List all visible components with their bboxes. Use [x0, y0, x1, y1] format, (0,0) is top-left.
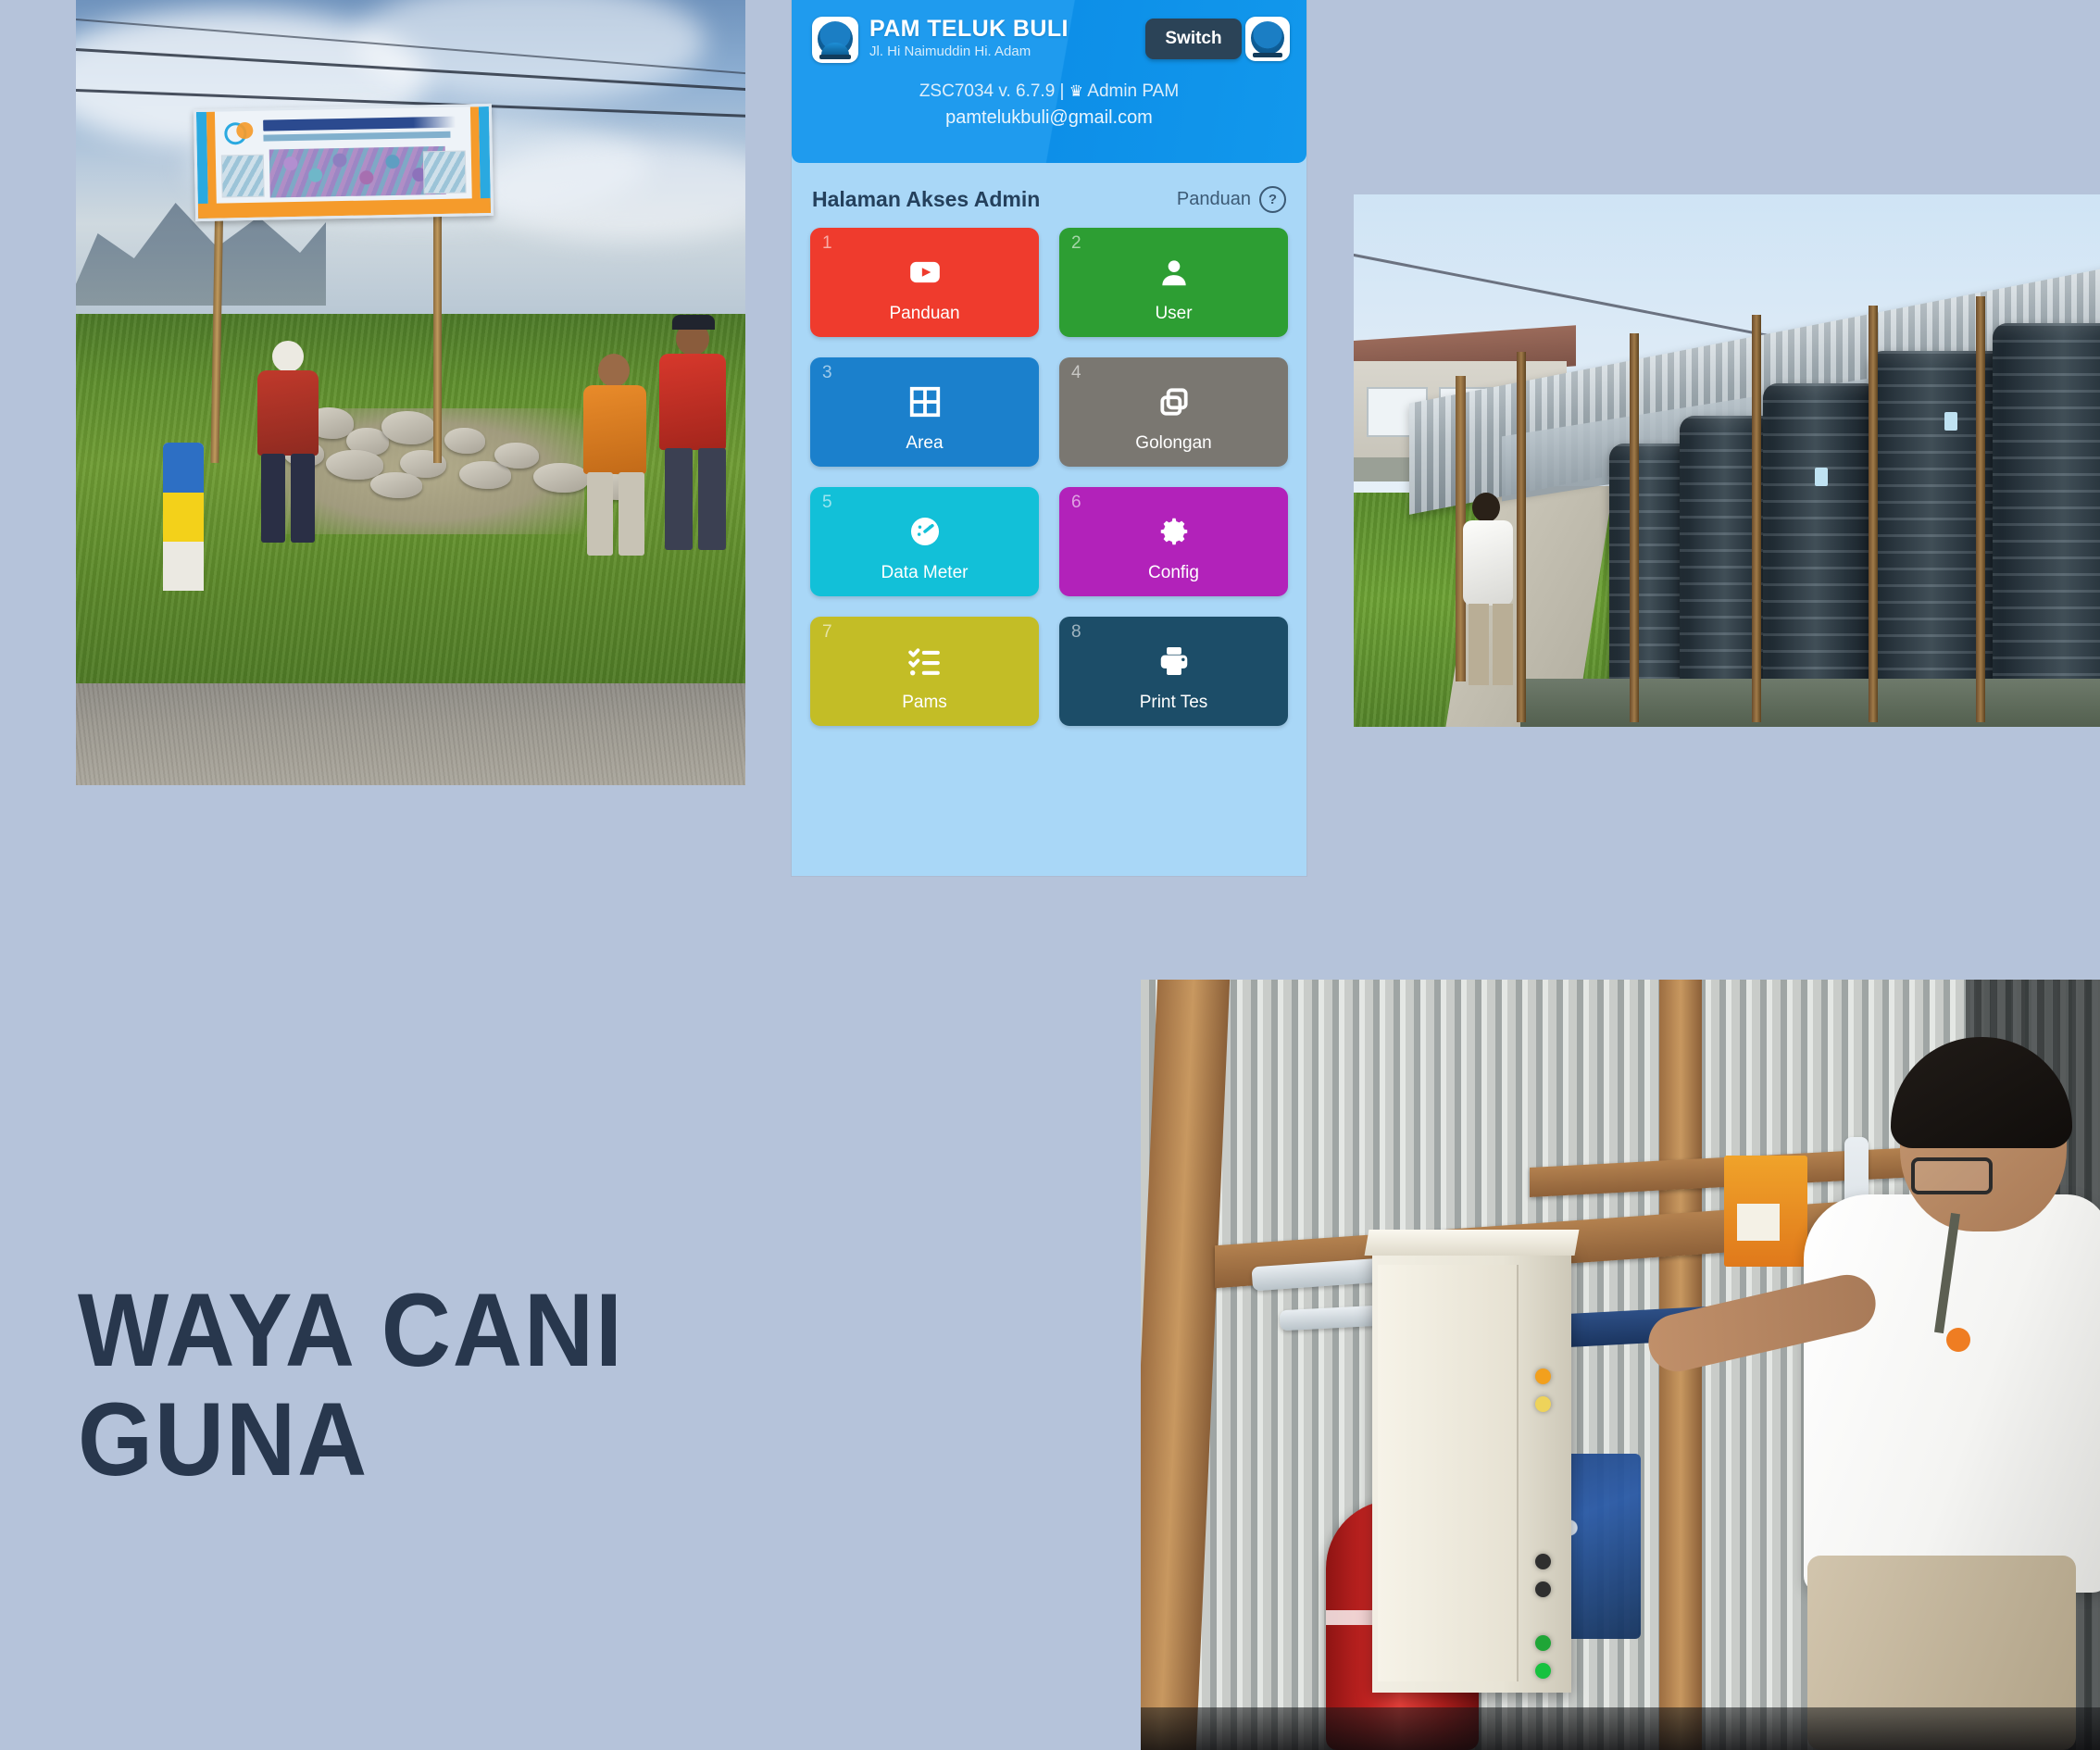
app-header: PAM TELUK BULI Jl. Hi Naimuddin Hi. Adam… — [792, 0, 1306, 163]
printer-icon — [1059, 641, 1288, 681]
shirt-logo — [1946, 1328, 1970, 1352]
copy-icon — [1059, 381, 1288, 422]
app-body: Halaman Akses Admin Panduan ? 1Panduan2U… — [792, 163, 1306, 876]
ground-concrete — [1520, 679, 2100, 727]
switch-button[interactable]: Switch — [1145, 19, 1242, 59]
water-tank — [1869, 351, 2007, 721]
indicator-lamp — [1535, 1554, 1551, 1569]
csr-logo-icon — [224, 119, 256, 144]
menu-tile-label: Print Tes — [1059, 693, 1288, 713]
app-brand-title: PAM TELUK BULI — [869, 15, 1069, 43]
indicator-lamp — [1535, 1369, 1551, 1384]
app-version-text: ZSC7034 v. 6.7.9 | — [919, 81, 1065, 101]
admin-menu-grid: 1Panduan2User3Area4Golongan5Data Meter6C… — [810, 228, 1288, 726]
menu-tile-print-tes[interactable]: 8Print Tes — [1059, 617, 1288, 726]
shelter-post — [1752, 315, 1761, 722]
pump-room-technician-photo — [1141, 980, 2100, 1750]
menu-tile-panduan[interactable]: 1Panduan — [810, 228, 1039, 337]
menu-tile-label: Panduan — [810, 304, 1039, 324]
switch-button-label: Switch — [1150, 29, 1236, 49]
grid-icon — [810, 381, 1039, 422]
menu-tile-data-meter[interactable]: 5Data Meter — [810, 487, 1039, 596]
admin-app-screenshot: PAM TELUK BULI Jl. Hi Naimuddin Hi. Adam… — [792, 0, 1306, 876]
banner-side-photo-left — [221, 155, 265, 198]
csr-banner-board — [194, 104, 494, 221]
banner-title-text — [263, 117, 456, 131]
menu-tile-number: 1 — [822, 233, 832, 254]
menu-tile-label: Pams — [810, 693, 1039, 713]
gear-icon — [1059, 511, 1288, 552]
shelter-post — [1517, 352, 1526, 722]
person-icon — [1059, 252, 1288, 293]
shelter-post — [1869, 306, 1878, 722]
panduan-help-label: Panduan — [1177, 189, 1251, 210]
control-cabinet — [1372, 1248, 1571, 1693]
banner-subtitle-text — [263, 131, 450, 142]
indicator-lamp — [1535, 1581, 1551, 1597]
menu-tile-number: 5 — [822, 493, 832, 513]
menu-tile-number: 4 — [1071, 363, 1081, 383]
water-tanks-photo — [1354, 194, 2100, 727]
checklist-icon — [810, 641, 1039, 681]
menu-tile-user[interactable]: 2User — [1059, 228, 1288, 337]
menu-tile-number: 8 — [1071, 622, 1081, 643]
road-marker-post — [163, 443, 204, 591]
technician-person — [1720, 1046, 2100, 1750]
page-title: WAYA CANI GUNA — [78, 1276, 1004, 1494]
page-title-line-2: GUNA — [78, 1385, 939, 1494]
menu-tile-number: 6 — [1071, 493, 1081, 513]
menu-tile-number: 7 — [822, 622, 832, 643]
menu-tile-label: Golongan — [1059, 433, 1288, 454]
indicator-lamp — [1535, 1663, 1551, 1679]
pam-logo-icon — [812, 17, 858, 63]
menu-tile-config[interactable]: 6Config — [1059, 487, 1288, 596]
page-canvas: PAM TELUK BULI Jl. Hi Naimuddin Hi. Adam… — [0, 0, 2100, 1750]
menu-tile-golongan[interactable]: 4Golongan — [1059, 357, 1288, 467]
app-version-role-line: ZSC7034 v. 6.7.9 | ♛ Admin PAM — [792, 79, 1306, 105]
section-title: Halaman Akses Admin — [812, 187, 1040, 212]
csr-signboard-photo — [76, 0, 745, 785]
page-title-line-1: WAYA CANI — [78, 1276, 939, 1385]
signboard-pole-right — [433, 185, 442, 463]
menu-tile-label: User — [1059, 304, 1288, 324]
floor-shadow — [1141, 1707, 2100, 1750]
menu-tile-label: Data Meter — [810, 563, 1039, 583]
indicator-lamp — [1535, 1635, 1551, 1651]
youtube-icon — [810, 252, 1039, 293]
menu-tile-number: 3 — [822, 363, 832, 383]
app-role-text: Admin PAM — [1087, 81, 1179, 101]
banner-side-photo-right — [423, 150, 467, 194]
banner-collage — [269, 146, 446, 198]
indicator-lamp — [1535, 1396, 1551, 1412]
help-question-icon: ? — [1259, 186, 1286, 213]
menu-tile-pams[interactable]: 7Pams — [810, 617, 1039, 726]
app-brand-subtitle: Jl. Hi Naimuddin Hi. Adam — [869, 43, 1069, 61]
gauge-icon — [810, 511, 1039, 552]
app-account-email: pamtelukbuli@gmail.com — [792, 105, 1306, 131]
shelter-post — [1630, 333, 1639, 722]
menu-tile-label: Config — [1059, 563, 1288, 583]
menu-tile-number: 2 — [1071, 233, 1081, 254]
crown-icon: ♛ — [1069, 82, 1083, 100]
water-tank — [1993, 323, 2100, 721]
menu-tile-label: Area — [810, 433, 1039, 454]
tank-label — [1815, 468, 1828, 486]
shelter-post — [1976, 296, 1985, 722]
tank-label — [1944, 412, 1957, 431]
water-tank — [1763, 383, 1880, 721]
technician-hair — [1891, 1037, 2072, 1148]
menu-tile-area[interactable]: 3Area — [810, 357, 1039, 467]
panduan-help-link[interactable]: Panduan ? — [1177, 186, 1286, 213]
switch-account-logo-icon[interactable] — [1245, 17, 1290, 61]
road-strip — [76, 683, 745, 785]
eyeglasses-icon — [1911, 1157, 1993, 1194]
